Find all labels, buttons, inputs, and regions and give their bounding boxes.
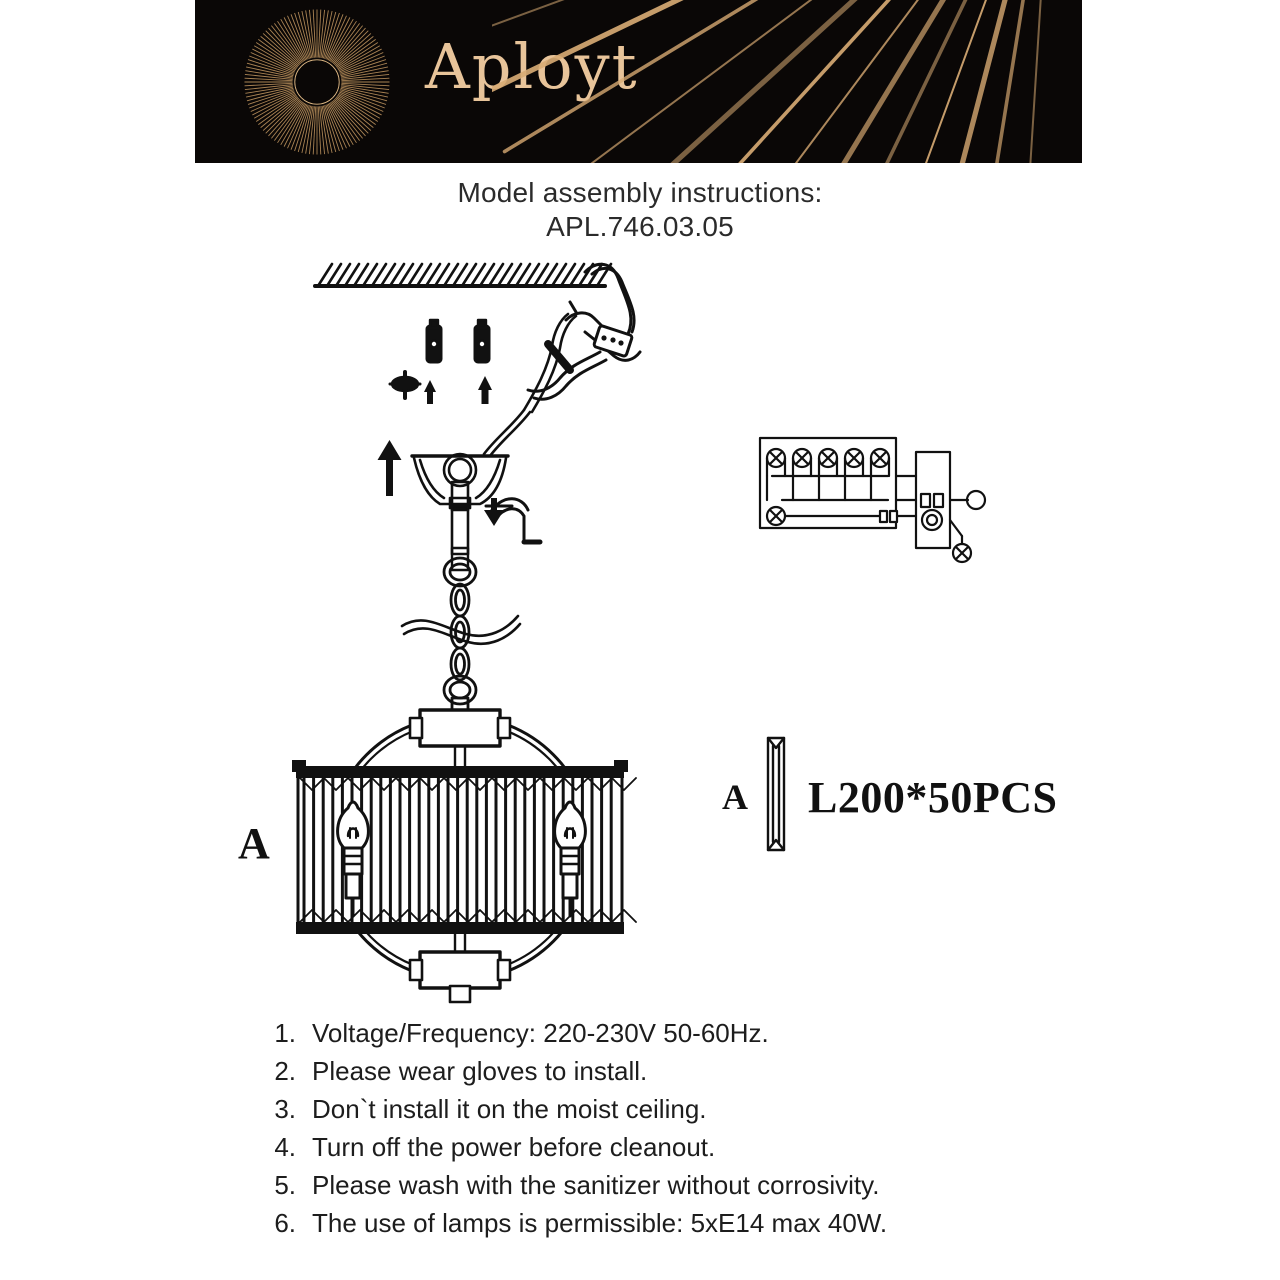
list-item-text: Voltage/Frequency: 220-230V 50-60Hz. xyxy=(296,1018,769,1049)
ceiling-hatch-icon xyxy=(315,264,611,286)
brand-banner: Aployt xyxy=(195,0,1082,163)
instruction-sheet: Aployt Model assembly instructions: APL.… xyxy=(0,0,1280,1280)
list-item: 1. Voltage/Frequency: 220-230V 50-60Hz. xyxy=(252,1018,1072,1049)
list-item-text: Please wear gloves to install. xyxy=(296,1056,647,1087)
list-item-number: 5. xyxy=(252,1170,296,1201)
page-title: Model assembly instructions: APL.746.03.… xyxy=(0,176,1280,244)
list-item: 2. Please wear gloves to install. xyxy=(252,1056,1072,1087)
part-quantity-label: L200*50PCS xyxy=(808,772,1057,823)
list-item-text: Don`t install it on the moist ceiling. xyxy=(296,1094,707,1125)
wiring-diagram-icon xyxy=(760,438,985,562)
hanging-wire-icon xyxy=(402,616,520,644)
list-item: 6. The use of lamps is permissible: 5xE1… xyxy=(252,1208,1072,1239)
list-item-number: 6. xyxy=(252,1208,296,1239)
ceiling-canopy-icon xyxy=(412,410,530,554)
list-item-text: The use of lamps is permissible: 5xE14 m… xyxy=(296,1208,887,1239)
chandelier-icon xyxy=(292,710,636,1002)
sunburst-logo-icon xyxy=(243,8,391,156)
list-item: 3. Don`t install it on the moist ceiling… xyxy=(252,1094,1072,1125)
arrow-up-icon xyxy=(378,440,402,496)
chain-icon xyxy=(444,558,476,716)
list-item-number: 4. xyxy=(252,1132,296,1163)
instruction-list: 1. Voltage/Frequency: 220-230V 50-60Hz. … xyxy=(252,1018,1072,1246)
list-item-text: Turn off the power before cleanout. xyxy=(296,1132,715,1163)
list-item-text: Please wash with the sanitizer without c… xyxy=(296,1170,879,1201)
list-item-number: 2. xyxy=(252,1056,296,1087)
list-item: 4. Turn off the power before cleanout. xyxy=(252,1132,1072,1163)
crystal-rod-icon xyxy=(768,738,784,850)
list-item-number: 1. xyxy=(252,1018,296,1049)
list-item: 5. Please wash with the sanitizer withou… xyxy=(252,1170,1072,1201)
assembly-diagram xyxy=(0,248,1280,1008)
model-number: APL.746.03.05 xyxy=(0,210,1280,244)
wall-plug-icon xyxy=(424,380,436,404)
radial-rays-icon xyxy=(492,0,1082,163)
wing-nut-icon xyxy=(390,372,420,398)
bracket-anchor-icon xyxy=(475,320,489,362)
bracket-anchor-icon xyxy=(427,320,441,362)
part-label-a: A xyxy=(722,776,748,818)
title-main: Model assembly instructions: xyxy=(0,176,1280,210)
wall-plug-icon xyxy=(478,376,492,404)
list-item-number: 3. xyxy=(252,1094,296,1125)
fixture-label-a: A xyxy=(238,818,270,869)
